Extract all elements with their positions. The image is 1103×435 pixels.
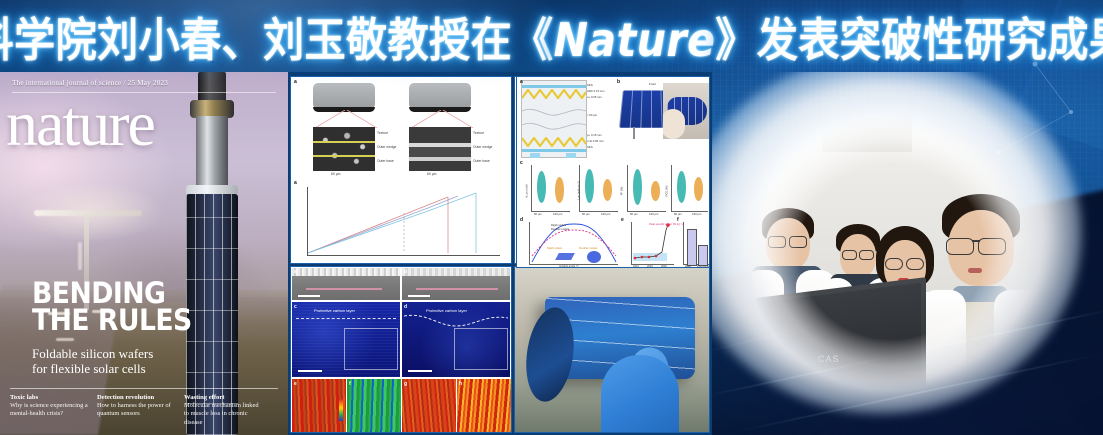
cover-subhead-line1: Foldable silicon wafers [32,347,222,362]
lab-team-photo: CAS [712,72,1103,435]
banner-graphic: 材料学院刘小春、刘玉敬教授在《Nature》发表突破性研究成果！ [0,0,1103,435]
monitor-stand [792,395,836,430]
cover-teaser: Detection revolution How to harness the … [97,394,175,427]
cover-teaser-rule [10,388,278,389]
axis-tick-x: 2016 [647,265,653,268]
force-displacement-curves [308,187,500,255]
violin-category: 60 μm [674,212,682,216]
page-title-journal: Nature [554,14,716,68]
layer-line [313,155,375,157]
cover-subhead-line2: for flexible solar cells [32,362,222,377]
bar-category: Wafer [685,265,691,268]
wafer-schematic-left [313,83,375,109]
panel-label-e: e [294,381,297,387]
page-title: 材料学院刘小春、刘玉敬教授在《Nature》发表突破性研究成果！ [0,2,1103,69]
ebsd-map-f [347,379,401,432]
scale-bar [408,295,430,297]
cover-strapline: The international journal of science / 2… [12,79,168,87]
photo-background [515,267,709,432]
page-title-part2: 》发表突破性研究成果！ [715,14,1103,68]
violin-category: 60 μm [630,212,638,216]
cover-teaser-body: Why is science experiencing a mental-hea… [10,402,88,419]
sem-surface-texture [292,268,400,276]
sem-overlay-text: Protective carbon layer [314,308,355,313]
schematic-note: ≈ 60 μm [587,113,597,117]
scale-caption-left: 60 μm [331,172,341,176]
trend-annotation: Peak specific power (W kg⁻¹) [649,223,683,226]
bar-interconnect [698,245,708,266]
texture-zigzag-top [522,89,586,99]
ebsd-map-d: Protective carbon layer [402,302,510,377]
glasses-left-lens [946,238,974,255]
lab-scene: CAS [722,102,1062,402]
panel-label-g: g [404,381,407,387]
monitor-brand-label: CAS [818,354,840,364]
layer-label: Texture [377,131,388,135]
sem-annotation-line [306,288,382,290]
axis-label-y: V_oc (mV) [525,184,529,197]
researcher-4-lead [928,194,1048,394]
gloved-hand [601,355,679,433]
flexible-module-photo [663,83,709,139]
violin-category: 130 μm [601,212,610,216]
interface-dashed-line [296,318,396,319]
cover-teaser-title: Wasting effort [184,394,262,402]
panel-label-c: c [520,160,523,166]
glasses-bridge [972,240,980,242]
scale-bar [298,370,322,372]
violin-shape-thin [537,171,546,203]
texture-zigzag-bottom [522,137,586,147]
wafer-schematic-right [409,83,471,109]
ebsd-map-c: Protective carbon layer [292,302,400,377]
axis-label-y: J_sc (mA cm⁻²) [577,181,581,200]
cover-teaser-body: Molecular mechanism linked to muscle los… [184,402,262,427]
panel-label-b: a [294,180,297,186]
cover-teaser: Wasting effort Molecular mechanism linke… [184,394,262,427]
violin-shape-thin [585,169,594,203]
layer-label: Texture [473,131,484,135]
zoom-leader-right [407,110,477,128]
legend-item: Flexible module [551,228,569,231]
lab-coat [920,290,966,394]
panel-label-a: a [294,79,297,85]
figure-panel-sem: a b Protective carbon layer c Protective… [290,266,512,433]
layer-label: Outer wedge [377,145,396,149]
module-caption: Front [649,82,656,86]
bar-category: Interconnect [697,265,710,268]
violin-category: 130 μm [692,212,701,216]
panel-label-f: f [349,381,351,387]
scale-caption-right: 60 μm [427,172,437,176]
axis-tick-x: 2020 [661,265,667,268]
substrate-wave [522,105,586,131]
panel-label-f: f [677,217,679,223]
panel-label-d: d [520,217,523,223]
violin-shape-thick [651,181,660,201]
flexible-module-icon [587,251,601,263]
sem-surface-texture [402,268,510,276]
schematic-note: ARC 0.15 mm [587,89,605,93]
sem-strip-b [402,268,510,300]
nature-masthead: nature [6,92,154,156]
schematic-note: p+ 0.15 mm [587,133,602,137]
figure-panel-device: SiNx ARC 0.15 mm n+ 0.65 mm ≈ 60 μm p+ 0… [516,76,710,268]
specific-power-curve [632,222,674,264]
layer-line [313,141,375,143]
violin-shape-thin [633,169,642,205]
glasses-left-lens [885,258,903,270]
page-title-part1: 材料学院刘小春、刘玉敬教授在《 [0,14,554,68]
region-of-interest [454,328,508,370]
legend-item: Rigid module [551,224,566,227]
panel-label-b: b [404,269,407,275]
solar-pole-illustration [170,72,254,435]
glasses-left-lens [842,250,857,260]
panel-label-d: d [404,304,407,310]
lab-coat [994,290,1048,394]
panel-label-b: b [617,79,620,85]
axis-label-y: FF (%) [619,187,623,196]
headline-bar: 材料学院刘小春、刘玉敬教授在《Nature》发表突破性研究成果！ [0,0,1103,72]
module-leg [633,127,635,139]
panel-label-c: c [294,304,297,310]
scale-bar [298,295,320,297]
annotation-flexible: Flexible module [579,247,597,250]
panel-label-e: e [621,217,624,223]
glasses-right-lens [978,238,1006,255]
lamp-far [56,338,74,341]
cover-teaser: Toxic labs Why is science experiencing a… [10,394,88,427]
violin-shape-thick [555,177,564,203]
incident-angle-curves [530,222,618,264]
cover-teaser-body: How to harness the power of quantum sens… [97,402,175,419]
sem-annotation-line [416,288,498,290]
schematic-note: n+ 0.65 mm [587,95,602,99]
violin-category: 60 μm [534,212,542,216]
violin-shape-thick [694,177,703,201]
figure-panel-bent-wafer-photo [514,266,710,433]
cell-crosssection-schematic [521,80,587,158]
cover-teaser-list: Toxic labs Why is science experiencing a… [10,394,278,427]
axis-label-y: PCE (%) [664,186,668,197]
pole-top [198,72,226,102]
ebsd-map-h [457,379,511,432]
ebsd-map-e [292,379,346,432]
panel-label-a: a [294,269,297,275]
bar-wafer [687,229,697,266]
sem-strip-a [292,268,400,300]
scale-bar [408,370,432,372]
schematic-note: n-Si 0.65 mm [587,139,604,143]
glasses-right-lens [789,236,807,248]
cover-headline-line2: THE RULES [32,307,192,334]
glasses-left-lens [768,236,786,248]
layer-label: Outer base [473,159,490,163]
cover-subhead: Foldable silicon wafers for flexible sol… [32,347,222,377]
nature-magazine-cover: The international journal of science / 2… [0,72,288,435]
violin-category: 130 μm [649,212,658,216]
schematic-note: SiNx [587,145,593,149]
annotation-rigid: Rigid module [547,247,562,250]
sem-planar-crosssection [409,127,471,171]
layer-label: Outer base [377,159,394,163]
color-scale-bar [339,399,343,421]
violin-category: 130 μm [553,212,562,216]
cover-teaser-title: Detection revolution [97,394,175,402]
sem-textured-crosssection [313,127,375,171]
lamp-far-post [78,242,82,270]
panel-label-a: a [520,79,523,85]
region-of-interest [344,328,398,370]
cover-headline: BENDING THE RULES [32,280,192,333]
lab-door [822,102,912,152]
pole-shaft [196,116,228,188]
lips [968,268,982,273]
panel-label-h: h [459,381,462,387]
layer-label: Outer wedge [473,145,492,149]
violin-shape-thick [603,179,612,201]
schematic-note: SiNx [587,83,593,87]
violin-shape-thin [677,171,686,203]
violin-category: 60 μm [582,212,590,216]
zoom-leader-left [311,110,381,128]
ebsd-map-g [402,379,456,432]
axis-label-x: Incident angle (°) [559,265,579,268]
cover-teaser-title: Toxic labs [10,394,88,402]
glasses-right-lens [906,258,924,270]
axis-tick-x: 2012 [633,265,639,268]
figure-panel-a: a 60 μm 60 μm Textu [290,76,512,264]
